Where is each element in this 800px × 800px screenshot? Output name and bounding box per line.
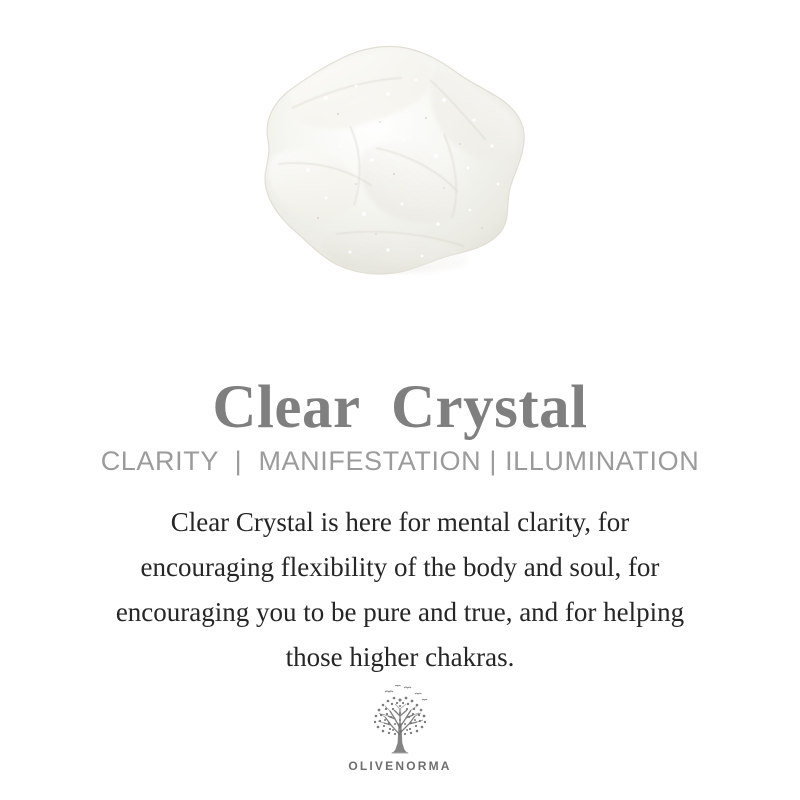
description-line: Clear Crystal is here for mental clarity… [30,500,770,545]
description-line: those higher chakras. [30,635,770,680]
product-card: Clear Crystal CLARITY | MANIFESTATION | … [0,0,800,800]
olive-tree-icon [357,683,443,757]
description-line: encouraging you to be pure and true, and… [30,590,770,635]
clear-quartz-crystal-icon [230,28,540,290]
product-description: Clear Crystal is here for mental clarity… [30,500,770,680]
product-title: Clear Crystal [0,373,800,443]
brand-wordmark: OLIVENORMA [0,759,800,773]
crystal-image-figure [0,0,800,300]
product-keywords: CLARITY | MANIFESTATION | ILLUMINATION [0,444,800,478]
brand-logo: OLIVENORMA [0,683,800,783]
description-line: encouraging flexibility of the body and … [30,545,770,590]
